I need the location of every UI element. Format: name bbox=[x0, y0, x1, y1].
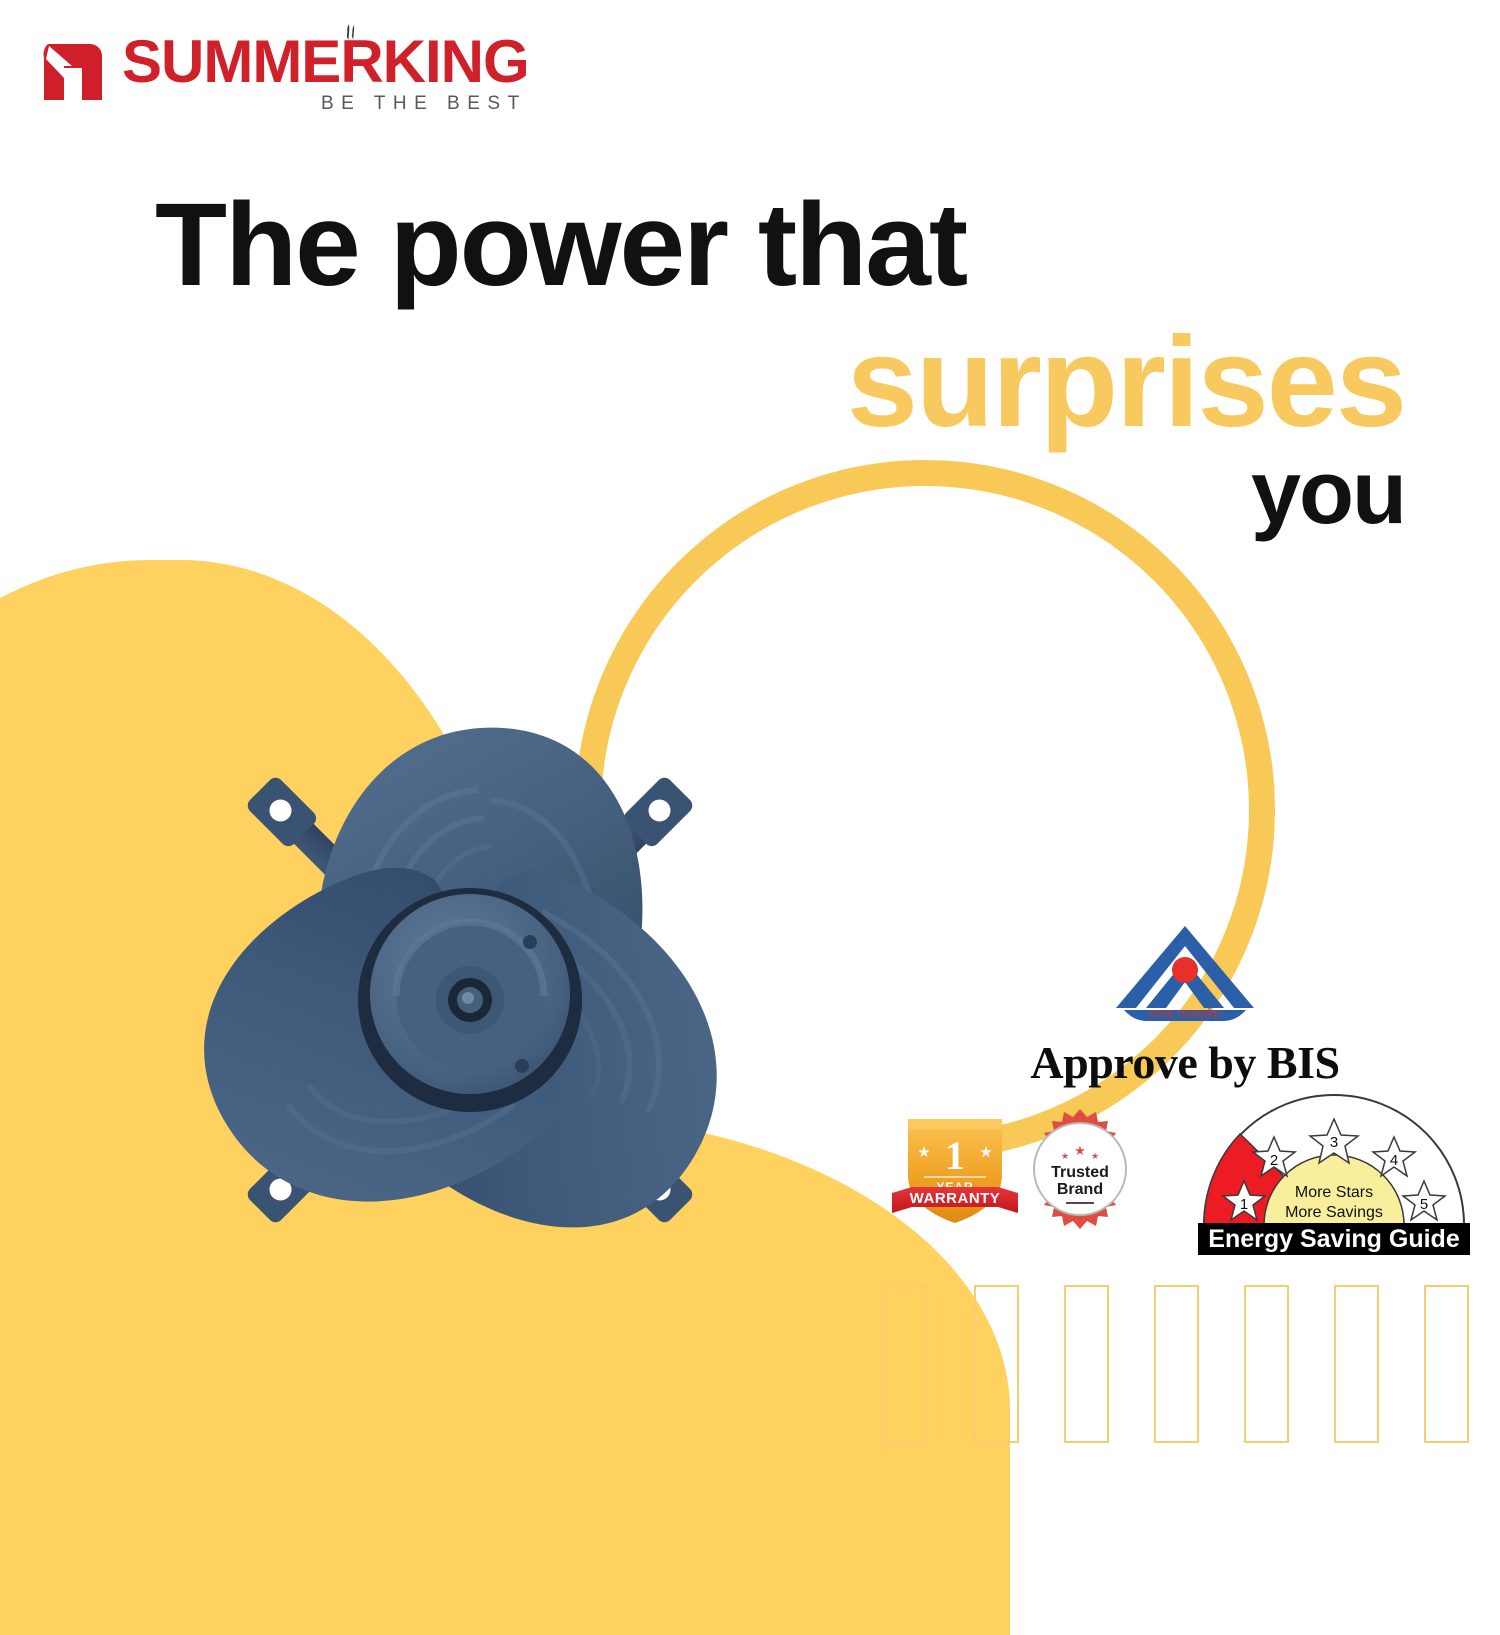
headline-line-3: you bbox=[0, 451, 1460, 536]
pattern-bar bbox=[1424, 1285, 1469, 1443]
svg-text:Trusted: Trusted bbox=[1051, 1164, 1109, 1181]
brand-logo: SUMMERKING BE THE BEST bbox=[38, 34, 529, 115]
bis-approval-block: मानकः पथप्रदर्शकः Approve by BIS bbox=[975, 920, 1395, 1089]
svg-text:More Savings: More Savings bbox=[1285, 1204, 1383, 1221]
svg-text:★: ★ bbox=[917, 1144, 930, 1161]
pattern-bar bbox=[884, 1285, 929, 1443]
summerking-square-arrow-logo bbox=[38, 38, 108, 111]
trusted-brand-badge: ★ ★ ★ Trusted Brand bbox=[1016, 1107, 1144, 1231]
poster-canvas: SUMMERKING BE THE BEST The power that su… bbox=[0, 0, 1500, 1500]
svg-text:1: 1 bbox=[1240, 1196, 1248, 1213]
brand-name: SUMMERKING bbox=[122, 34, 529, 89]
svg-text:1: 1 bbox=[945, 1133, 965, 1178]
energy-saving-guide-badge: 1 2 3 4 5 More Stars More Savings Energy… bbox=[1188, 1085, 1480, 1261]
trust-badges-row: 1 ★ ★ YEAR WARRANTY ★ ★ bbox=[880, 1085, 1490, 1265]
brand-tagline: BE THE BEST bbox=[122, 93, 529, 115]
svg-text:मानकः पथप्रदर्शकः: मानकः पथप्रदर्शकः bbox=[1148, 1008, 1222, 1021]
svg-text:5: 5 bbox=[1420, 1196, 1428, 1213]
bis-standard-mark-icon: मानकः पथप्रदर्शकः bbox=[975, 920, 1395, 1032]
headline-line-1: The power that bbox=[0, 190, 1460, 301]
headline-block: The power that surprises you bbox=[0, 190, 1460, 536]
bis-caption: Approve by BIS bbox=[975, 1036, 1395, 1089]
flame-icon bbox=[336, 22, 362, 48]
yellow-bar-pattern bbox=[884, 1285, 1500, 1443]
svg-text:More Stars: More Stars bbox=[1295, 1184, 1373, 1201]
svg-text:★: ★ bbox=[1091, 1151, 1099, 1161]
svg-text:Energy Saving Guide: Energy Saving Guide bbox=[1208, 1225, 1460, 1253]
svg-text:★: ★ bbox=[1061, 1151, 1069, 1161]
pattern-bar bbox=[1064, 1285, 1109, 1443]
headline-line-2: surprises bbox=[0, 323, 1460, 443]
fan-hub bbox=[358, 888, 582, 1112]
svg-text:4: 4 bbox=[1390, 1152, 1398, 1169]
svg-text:WARRANTY: WARRANTY bbox=[910, 1190, 1001, 1207]
svg-text:★: ★ bbox=[979, 1144, 992, 1161]
pattern-bar bbox=[1244, 1285, 1289, 1443]
logo-text-group: SUMMERKING BE THE BEST bbox=[122, 34, 529, 115]
svg-text:★: ★ bbox=[1074, 1143, 1086, 1158]
ceiling-fan-product-image bbox=[110, 640, 830, 1370]
pattern-bar bbox=[1154, 1285, 1199, 1443]
svg-text:Brand: Brand bbox=[1057, 1181, 1103, 1198]
pattern-bar bbox=[974, 1285, 1019, 1443]
svg-text:2: 2 bbox=[1270, 1152, 1278, 1169]
svg-text:3: 3 bbox=[1330, 1134, 1338, 1151]
pattern-bar bbox=[1334, 1285, 1379, 1443]
warranty-badge: 1 ★ ★ YEAR WARRANTY bbox=[890, 1103, 1020, 1231]
